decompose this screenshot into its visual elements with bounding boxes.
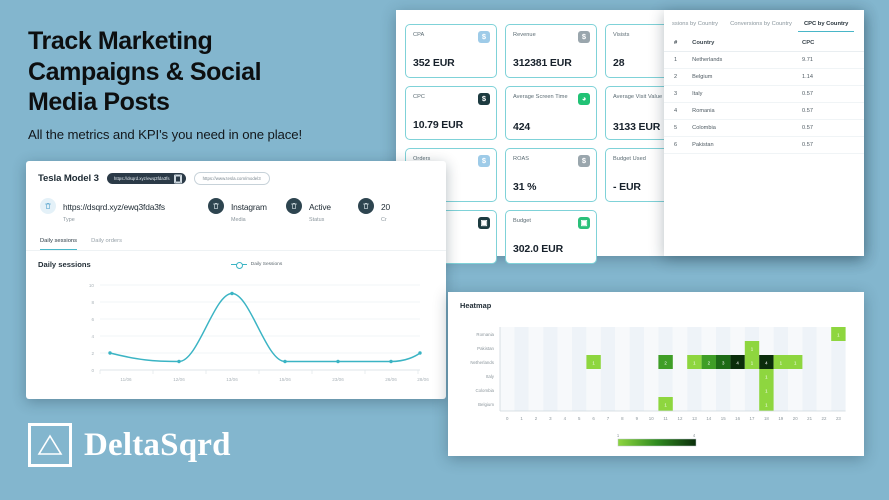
svg-text:2: 2 xyxy=(91,351,94,356)
svg-text:0: 0 xyxy=(506,416,509,421)
meta-value: https://dsqrd.xyz/ewq3fda3fs xyxy=(63,202,165,212)
title-line-2: Campaigns & Social xyxy=(28,58,261,86)
kpi-value: - EUR xyxy=(613,181,641,193)
svg-text:23/06: 23/06 xyxy=(332,377,344,382)
brand-name: DeltaSqrd xyxy=(84,427,231,464)
table-row[interactable]: 2 Belgium 1.14 xyxy=(664,69,864,86)
chart-title: Daily sessions xyxy=(38,260,91,269)
table-row[interactable]: 1 Netherlands 9.71 xyxy=(664,52,864,69)
svg-text:2: 2 xyxy=(535,416,538,421)
cell-country: Belgium xyxy=(688,69,798,86)
campaign-meta-row: https://dsqrd.xyz/ewq3fda3fs Type Instag… xyxy=(26,185,446,223)
wallet-icon: ▣ xyxy=(578,217,590,229)
kpi-card-budget[interactable]: Budget ▣ 302.0 EUR xyxy=(505,210,597,264)
kpi-label: CPA xyxy=(413,31,469,39)
svg-text:6: 6 xyxy=(91,317,94,322)
meta-item-type: https://dsqrd.xyz/ewq3fda3fs Type xyxy=(40,197,208,223)
wallet-icon: ▣ xyxy=(478,217,490,229)
svg-text:8: 8 xyxy=(621,416,624,421)
country-table: # Country CPC 1 Netherlands 9.71 2 Belgi… xyxy=(664,35,864,154)
target-url-text: https://www.tesla.com/model3 xyxy=(203,176,261,181)
cell-country: Colombia xyxy=(688,120,798,137)
campaign-detail-panel: Tesla Model 3 https://dsqrd.xyz/ewq3fda3… xyxy=(26,161,446,399)
chart-header: Daily sessions Daily Sessions xyxy=(38,260,434,269)
meta-item-status: Active Status xyxy=(286,197,358,223)
cell-rank: 5 xyxy=(664,120,688,137)
table-row[interactable]: 5 Colombia 0.57 xyxy=(664,120,864,137)
column-header-cpc: CPC xyxy=(798,35,864,52)
short-url-pill[interactable]: https://dsqrd.xyz/ewq3fda3fs xyxy=(107,173,186,184)
country-tabs: ssions by Country Conversions by Country… xyxy=(664,10,864,32)
dollar-icon: $ xyxy=(478,155,490,167)
cell-rank: 4 xyxy=(664,103,688,120)
trash-icon[interactable] xyxy=(358,198,374,214)
kpi-label: Budget xyxy=(513,217,569,225)
table-header-row: # Country CPC xyxy=(664,35,864,52)
svg-text:11: 11 xyxy=(663,416,668,421)
kpi-value: 3133 EUR xyxy=(613,121,660,133)
meta-value: Instagram xyxy=(231,202,267,212)
svg-text:6: 6 xyxy=(592,416,595,421)
cell-cpc: 0.57 xyxy=(798,103,864,120)
meta-text: Active Status xyxy=(309,197,331,223)
svg-text:26/06: 26/06 xyxy=(385,377,397,382)
table-row[interactable]: 3 Italy 0.57 xyxy=(664,86,864,103)
cell-rank: 3 xyxy=(664,86,688,103)
svg-text:7: 7 xyxy=(607,416,610,421)
svg-text:22: 22 xyxy=(822,416,827,421)
kpi-value: 302.0 EUR xyxy=(513,243,563,255)
meta-text: Instagram Media xyxy=(231,197,267,223)
kpi-card-cpc[interactable]: CPC $ 10.79 EUR xyxy=(405,86,497,140)
svg-text:10: 10 xyxy=(89,283,95,288)
table-row[interactable]: 4 Romania 0.57 xyxy=(664,103,864,120)
meta-text: 20 Cr xyxy=(381,197,390,223)
slide-canvas: Track Marketing Campaigns & Social Media… xyxy=(0,0,889,500)
heatmap-title: Heatmap xyxy=(448,292,864,310)
heatmap-panel: Heatmap Romania Pakistan Netherlands Ita… xyxy=(448,292,864,456)
campaign-chart-tabs: Daily sessions Daily orders xyxy=(26,227,446,251)
country-breakdown-panel: ssions by Country Conversions by Country… xyxy=(664,10,864,256)
svg-text:13/06: 13/06 xyxy=(226,377,238,382)
svg-text:19: 19 xyxy=(778,416,783,421)
kpi-label: Revenue xyxy=(513,31,569,39)
kpi-value: 31 % xyxy=(513,181,536,193)
svg-text:Colombia: Colombia xyxy=(475,388,494,393)
cell-cpc: 1.14 xyxy=(798,69,864,86)
kpi-card-roas[interactable]: ROAS $ 31 % xyxy=(505,148,597,202)
dollar-icon: $ xyxy=(578,31,590,43)
svg-text:10: 10 xyxy=(649,416,654,421)
kpi-value: 312381 EUR xyxy=(513,57,572,69)
campaign-title: Tesla Model 3 xyxy=(38,173,99,184)
tab-cpc-by-country[interactable]: CPC by Country xyxy=(798,21,854,32)
svg-text:Pakistan: Pakistan xyxy=(477,346,494,351)
meta-label: Media xyxy=(231,217,267,223)
trash-icon[interactable] xyxy=(286,198,302,214)
svg-text:4: 4 xyxy=(693,433,696,438)
svg-text:23: 23 xyxy=(836,416,841,421)
meta-value: 20 xyxy=(381,202,390,212)
svg-text:4: 4 xyxy=(91,334,94,339)
svg-text:Italy: Italy xyxy=(486,374,495,379)
tab-impressions-by-country[interactable]: ssions by Country xyxy=(666,21,724,32)
svg-text:3: 3 xyxy=(549,416,552,421)
svg-text:12: 12 xyxy=(678,416,683,421)
cell-country: Pakistan xyxy=(688,137,798,154)
meta-label: Status xyxy=(309,217,331,223)
line-chart-svg: 10 8 6 4 2 0 11/06 12/06 xyxy=(38,273,434,385)
cell-cpc: 9.71 xyxy=(798,52,864,69)
tab-daily-orders[interactable]: Daily orders xyxy=(91,238,122,250)
kpi-label: Average Visit Value xyxy=(613,93,669,101)
svg-text:5: 5 xyxy=(578,416,581,421)
kpi-value: 28 xyxy=(613,57,624,69)
delta-triangle-icon xyxy=(28,423,72,467)
svg-text:Belgium: Belgium xyxy=(478,402,494,407)
tab-conversions-by-country[interactable]: Conversions by Country xyxy=(724,21,798,32)
svg-text:15/06: 15/06 xyxy=(279,377,291,382)
kpi-value: 424 xyxy=(513,121,530,133)
meta-item-created: 20 Cr xyxy=(358,197,430,223)
legend-marker-icon xyxy=(231,264,247,265)
cell-country: Romania xyxy=(688,103,798,120)
kpi-grid: CPA $ 352 EUR Revenue $ 312381 EUR Visis… xyxy=(405,24,697,264)
svg-text:1: 1 xyxy=(617,433,620,438)
trash-icon[interactable] xyxy=(208,198,224,214)
hero-heading-block: Track Marketing Campaigns & Social Media… xyxy=(28,26,388,142)
kpi-label: Visists xyxy=(613,31,669,39)
svg-text:13: 13 xyxy=(692,416,697,421)
svg-text:14: 14 xyxy=(706,416,711,421)
brand-logo: DeltaSqrd xyxy=(28,423,231,467)
title-line-3: Media Posts xyxy=(28,88,169,116)
table-row[interactable]: 6 Pakistan 0.57 xyxy=(664,137,864,154)
cell-cpc: 0.57 xyxy=(798,120,864,137)
svg-text:9: 9 xyxy=(636,416,639,421)
cell-cpc: 0.57 xyxy=(798,137,864,154)
tab-daily-sessions[interactable]: Daily sessions xyxy=(40,238,77,250)
target-url-pill[interactable]: https://www.tesla.com/model3 xyxy=(194,172,270,185)
daily-sessions-chart: Daily sessions Daily Sessions 10 8 6 4 xyxy=(26,251,446,385)
meta-label: Type xyxy=(63,217,165,223)
meta-value: Active xyxy=(309,202,331,212)
kpi-card-revenue[interactable]: Revenue $ 312381 EUR xyxy=(505,24,597,78)
svg-text:4: 4 xyxy=(564,416,567,421)
dollar-icon: $ xyxy=(578,155,590,167)
dollar-icon: $ xyxy=(478,31,490,43)
meta-label: Cr xyxy=(381,217,390,223)
kpi-label: ROAS xyxy=(513,155,569,163)
cell-country: Netherlands xyxy=(688,52,798,69)
campaign-header: Tesla Model 3 https://dsqrd.xyz/ewq3fda3… xyxy=(26,161,446,185)
clock-icon: ◕ xyxy=(578,93,590,105)
svg-text:1: 1 xyxy=(520,416,523,421)
kpi-card-average-screen-time[interactable]: Average Screen Time ◕ 424 xyxy=(505,86,597,140)
cell-cpc: 0.57 xyxy=(798,86,864,103)
svg-text:21: 21 xyxy=(807,416,812,421)
column-header-rank: # xyxy=(664,35,688,52)
heatmap-svg: Romania Pakistan Netherlands Italy Colom… xyxy=(448,313,864,453)
svg-text:18: 18 xyxy=(764,416,769,421)
svg-text:15: 15 xyxy=(721,416,726,421)
cell-rank: 1 xyxy=(664,52,688,69)
kpi-value: 10.79 EUR xyxy=(413,119,463,131)
svg-text:16: 16 xyxy=(735,416,740,421)
page-title: Track Marketing Campaigns & Social Media… xyxy=(28,26,388,118)
kpi-label: CPC xyxy=(413,93,469,101)
svg-text:17: 17 xyxy=(750,416,755,421)
svg-text:12/06: 12/06 xyxy=(173,377,185,382)
cell-country: Italy xyxy=(688,86,798,103)
dollar-icon: $ xyxy=(478,93,490,105)
svg-text:0: 0 xyxy=(91,368,94,373)
trash-icon[interactable] xyxy=(40,198,56,214)
cell-rank: 6 xyxy=(664,137,688,154)
svg-text:Netherlands: Netherlands xyxy=(470,360,494,365)
copy-icon[interactable] xyxy=(175,175,181,182)
svg-text:Romania: Romania xyxy=(476,332,494,337)
cell-rank: 2 xyxy=(664,69,688,86)
chart-legend: Daily Sessions xyxy=(231,262,282,267)
svg-text:20: 20 xyxy=(793,416,798,421)
kpi-value: 352 EUR xyxy=(413,57,455,69)
svg-text:28/06: 28/06 xyxy=(417,377,429,382)
kpi-label: Budget Used xyxy=(613,155,669,163)
meta-item-media: Instagram Media xyxy=(208,197,286,223)
kpi-label: Average Screen Time xyxy=(513,93,569,101)
title-line-1: Track Marketing xyxy=(28,27,212,55)
column-header-country: Country xyxy=(688,35,798,52)
svg-text:8: 8 xyxy=(91,300,94,305)
kpi-card-cpa[interactable]: CPA $ 352 EUR xyxy=(405,24,497,78)
svg-text:11/06: 11/06 xyxy=(120,377,132,382)
legend-label: Daily Sessions xyxy=(251,262,282,267)
hero-subtitle: All the metrics and KPI's you need in on… xyxy=(28,127,388,142)
short-url-text: https://dsqrd.xyz/ewq3fda3fs xyxy=(114,176,170,181)
meta-text: https://dsqrd.xyz/ewq3fda3fs Type xyxy=(63,197,165,223)
